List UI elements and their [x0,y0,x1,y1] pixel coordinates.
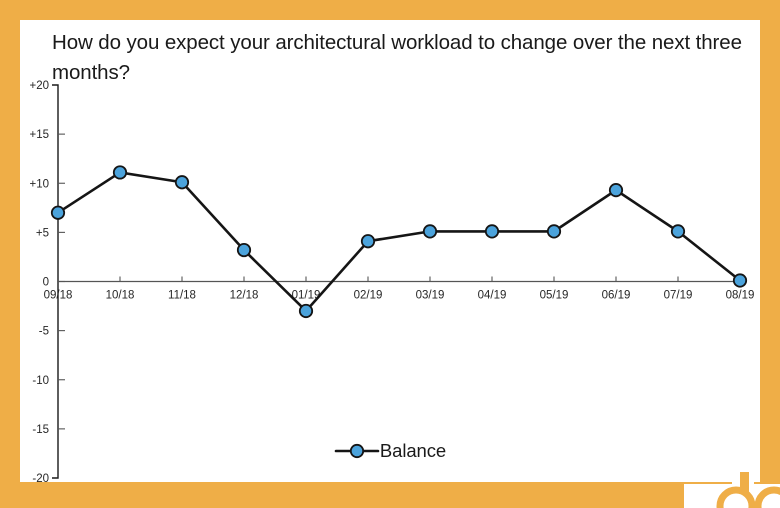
data-point-marker [548,225,560,237]
plot-svg: +20+15+10+50-5-10-15-20 09/1810/1811/181… [20,20,760,482]
y-axis-tick-label: +5 [36,227,49,239]
series-polyline [58,172,740,311]
data-point-marker [238,244,250,256]
x-axis-tick-label: 12/18 [230,290,259,302]
chart-frame: How do you expect your architectural wor… [0,0,780,508]
x-axis-tick-label: 03/19 [416,290,445,302]
x-axis-tick-label: 10/18 [106,290,135,302]
y-axis-tick-label: +15 [29,129,49,141]
y-axis-tick-label: -10 [32,375,49,387]
chart-legend: Balance [20,440,760,462]
y-axis-tick-label: -15 [32,424,49,436]
data-point-marker [486,225,498,237]
x-axis-tick-label: 06/19 [602,290,631,302]
data-point-marker [672,225,684,237]
x-axis-tick-label: 09/18 [44,290,73,302]
y-axis-tick-label: 0 [43,277,49,289]
x-axis-tick-label: 05/19 [540,290,569,302]
data-point-marker [176,176,188,188]
chart-panel: How do you expect your architectural wor… [20,20,760,482]
x-axis-tick-label: 07/19 [664,290,693,302]
data-point-marker [424,225,436,237]
series-balance [52,166,746,317]
data-point-marker [362,235,374,247]
y-axis-tick-label: +20 [29,80,49,92]
y-axis-tick-label: +10 [29,178,49,190]
data-point-marker [114,166,126,178]
data-point-marker [300,305,312,317]
legend-item-label: Balance [380,440,446,462]
line-chart-plot: +20+15+10+50-5-10-15-20 09/1810/1811/181… [20,20,760,482]
data-point-marker [610,184,622,196]
data-point-marker [52,207,64,219]
x-axis-tick-label: 04/19 [478,290,507,302]
x-axis: 09/1810/1811/1812/1801/1902/1903/1904/19… [44,277,755,302]
legend-line-marker-icon [334,442,380,460]
y-axis-tick-label: -5 [39,326,49,338]
x-axis-tick-label: 02/19 [354,290,383,302]
x-axis-tick-label: 08/19 [726,290,755,302]
data-point-marker [734,274,746,286]
x-axis-tick-label: 11/18 [168,290,196,302]
y-axis-tick-label: -20 [32,473,49,482]
